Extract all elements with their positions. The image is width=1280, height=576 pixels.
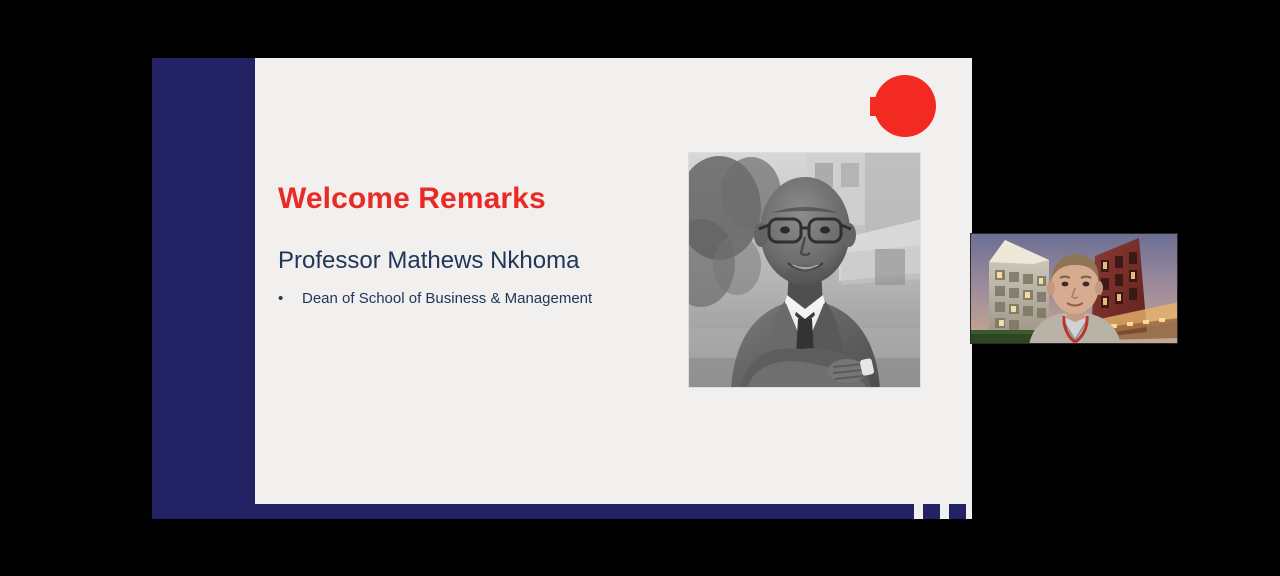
webcam-self-view-thumbnail[interactable] — [970, 233, 1178, 344]
footer-bar-gap — [966, 504, 972, 519]
presentation-slide[interactable]: Welcome Remarks Professor Mathews Nkhoma… — [152, 58, 972, 519]
footer-bar-gap — [940, 504, 949, 519]
speaker-portrait-photo — [688, 152, 921, 388]
slide-subtitle-speaker-name: Professor Mathews Nkhoma — [278, 247, 579, 275]
logo-circle — [874, 75, 936, 137]
slide-title: Welcome Remarks — [278, 182, 546, 216]
footer-bar-gap — [914, 504, 923, 519]
bullet-marker-icon: • — [278, 291, 302, 306]
slide-bullet-item: • Dean of School of Business & Managemen… — [278, 290, 592, 307]
screen-share-stage: Welcome Remarks Professor Mathews Nkhoma… — [0, 0, 1280, 576]
slide-bullet-text: Dean of School of Business & Management — [302, 290, 592, 307]
slide-navy-sidebar — [152, 58, 255, 519]
rmit-logo-icon — [870, 75, 936, 137]
slide-navy-footer-bar — [152, 504, 972, 519]
